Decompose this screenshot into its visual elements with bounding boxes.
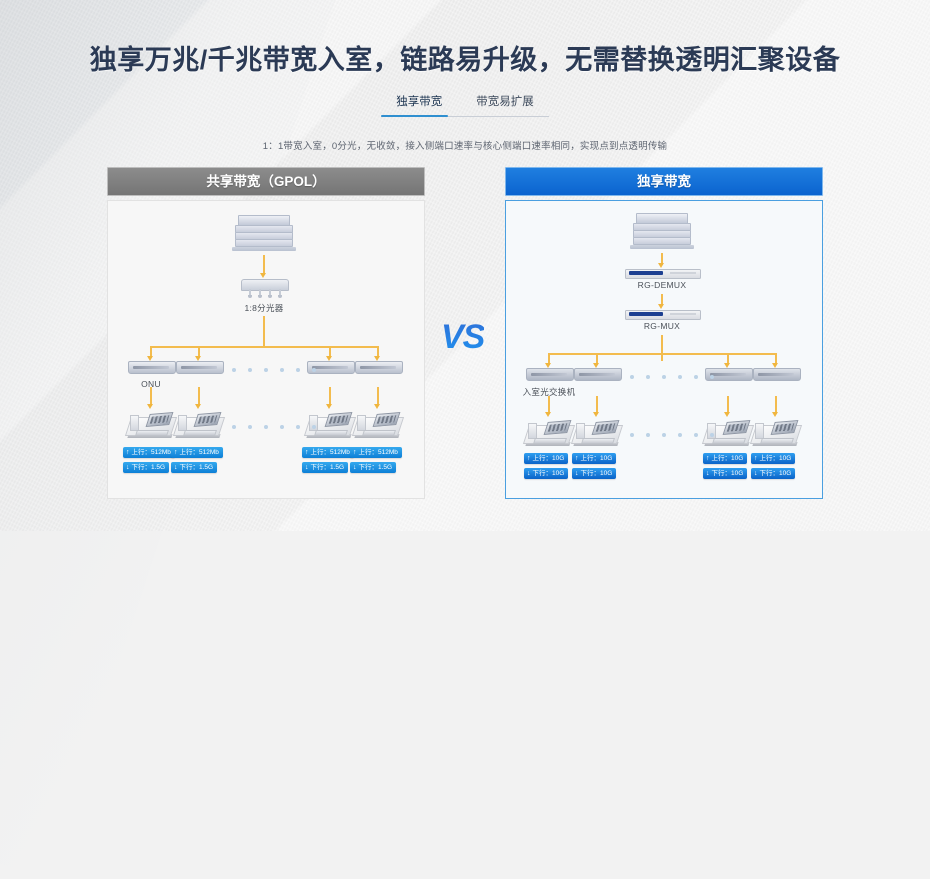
badge-downlink-3: ↓ 下行：10G (703, 468, 747, 479)
desktop-pc-2 (176, 411, 222, 441)
onu-device-1 (128, 361, 174, 374)
badge-uplink-1-text: 上行：10G (533, 453, 565, 464)
panel-shared-header: 共享带宽（GPOL） (107, 167, 425, 196)
tab-active-indicator (381, 115, 448, 117)
arrow-pc-4 (374, 404, 380, 409)
badge-downlink-1-text: 下行：1.5G (132, 462, 166, 473)
vs-label: VS (441, 318, 484, 357)
tab-bar: 独享带宽 带宽易扩展 (0, 90, 930, 115)
badge-downlink-3: ↓ 下行：1.5G (302, 462, 348, 473)
tab-bandwidth-expansion[interactable]: 带宽易扩展 (472, 90, 538, 115)
upload-icon: ↑ (353, 449, 357, 456)
upload-icon: ↑ (575, 455, 579, 462)
link-mux-to-bus (661, 335, 663, 361)
badge-uplink-1: ↑ 上行：10G (524, 453, 568, 464)
download-icon: ↓ (754, 470, 758, 477)
upload-icon: ↑ (174, 449, 178, 456)
pc-ellipsis (630, 433, 714, 437)
badge-downlink-1-text: 下行：10G (533, 468, 565, 479)
badge-downlink-1: ↓ 下行：10G (524, 468, 568, 479)
panel-shared-bandwidth: 共享带宽（GPOL） 1:8分光器 (107, 167, 425, 499)
badge-uplink-4-text: 上行：10G (760, 453, 792, 464)
download-icon: ↓ (174, 464, 178, 471)
panel-exclusive-body: RG-DEMUX RG-MUX (505, 200, 823, 499)
link-core-to-splitter (263, 255, 265, 275)
arrow-pc-2 (593, 412, 599, 417)
panel-exclusive-header: 独享带宽 (505, 167, 823, 196)
link-splitter-to-bus (263, 316, 265, 346)
upload-icon: ↑ (754, 455, 758, 462)
badge-downlink-1: ↓ 下行：1.5G (123, 462, 169, 473)
optical-splitter-icon (241, 279, 287, 293)
badge-downlink-2-text: 下行：10G (581, 468, 613, 479)
distribution-bus (150, 346, 378, 348)
badge-uplink-2: ↑ 上行：512Mb (171, 447, 223, 458)
badge-uplink-4: ↑ 上行：512Mb (350, 447, 402, 458)
arrow-pc-2 (195, 404, 201, 409)
badge-uplink-4-text: 上行：512Mb (359, 447, 398, 458)
pc-ellipsis (232, 425, 316, 429)
badge-downlink-4: ↓ 下行：10G (751, 468, 795, 479)
distribution-bus (548, 353, 776, 355)
rg-mux-device (625, 310, 701, 320)
onu-device-2 (176, 361, 222, 374)
badge-uplink-1: ↑ 上行：512Mb (123, 447, 175, 458)
badge-downlink-2: ↓ 下行：10G (572, 468, 616, 479)
badge-downlink-3-text: 下行：10G (712, 468, 744, 479)
badge-uplink-3-text: 上行：512Mb (311, 447, 350, 458)
download-icon: ↓ (353, 464, 357, 471)
badge-downlink-2-text: 下行：1.5G (180, 462, 214, 473)
download-icon: ↓ (575, 470, 579, 477)
badge-uplink-2-text: 上行：512Mb (180, 447, 219, 458)
badge-downlink-4: ↓ 下行：1.5G (350, 462, 396, 473)
download-icon: ↓ (305, 464, 309, 471)
arrow-pc-1 (545, 412, 551, 417)
desktop-pc-1 (526, 419, 572, 449)
room-optical-switch-4 (753, 368, 799, 381)
badge-uplink-3-text: 上行：10G (712, 453, 744, 464)
switch-ellipsis (630, 375, 714, 379)
desktop-pc-2 (574, 419, 620, 449)
arrow-core-to-splitter (260, 273, 266, 278)
page-subtitle: 1：1带宽入室，0分光，无收敛，接入侧端口速率与核心侧端口速率相同，实现点到点透… (0, 138, 930, 152)
badge-uplink-4: ↑ 上行：10G (751, 453, 795, 464)
badge-downlink-3-text: 下行：1.5G (311, 462, 345, 473)
core-chassis-icon (232, 215, 296, 249)
badge-downlink-4-text: 下行：10G (760, 468, 792, 479)
onu-ellipsis (232, 368, 316, 372)
room-optical-switch-1 (526, 368, 572, 381)
page-title: 独享万兆/千兆带宽入室，链路易升级，无需替换透明汇聚设备 (0, 38, 930, 77)
rg-demux-label: RG-DEMUX (638, 280, 687, 290)
arrow-demux-to-mux (658, 304, 664, 309)
badge-uplink-3: ↑ 上行：10G (703, 453, 747, 464)
panel-shared-body: 1:8分光器 ONU (107, 200, 425, 499)
desktop-pc-4 (355, 411, 401, 441)
badge-uplink-3: ↑ 上行：512Mb (302, 447, 354, 458)
download-icon: ↓ (527, 470, 531, 477)
panel-exclusive-bandwidth: 独享带宽 RG-DEMUX RG-MUX (505, 167, 823, 499)
arrow-pc-3 (724, 412, 730, 417)
upload-icon: ↑ (305, 449, 309, 456)
badge-uplink-2-text: 上行：10G (581, 453, 613, 464)
badge-downlink-4-text: 下行：1.5G (359, 462, 393, 473)
arrow-core-to-demux (658, 263, 664, 268)
badge-uplink-2: ↑ 上行：10G (572, 453, 616, 464)
arrow-pc-4 (772, 412, 778, 417)
desktop-pc-4 (753, 419, 799, 449)
splitter-label: 1:8分光器 (244, 302, 283, 314)
badge-downlink-2: ↓ 下行：1.5G (171, 462, 217, 473)
upload-icon: ↑ (126, 449, 130, 456)
desktop-pc-1 (128, 411, 174, 441)
core-chassis-icon (630, 213, 694, 247)
onu-device-4 (355, 361, 401, 374)
upload-icon: ↑ (706, 455, 710, 462)
upload-icon: ↑ (527, 455, 531, 462)
tab-exclusive-bandwidth[interactable]: 独享带宽 (392, 90, 446, 115)
download-icon: ↓ (126, 464, 130, 471)
arrow-pc-3 (326, 404, 332, 409)
download-icon: ↓ (706, 470, 710, 477)
rg-demux-device (625, 269, 701, 279)
badge-uplink-1-text: 上行：512Mb (132, 447, 171, 458)
room-optical-switch-2 (574, 368, 620, 381)
arrow-pc-1 (147, 404, 153, 409)
rg-mux-label: RG-MUX (644, 321, 680, 331)
